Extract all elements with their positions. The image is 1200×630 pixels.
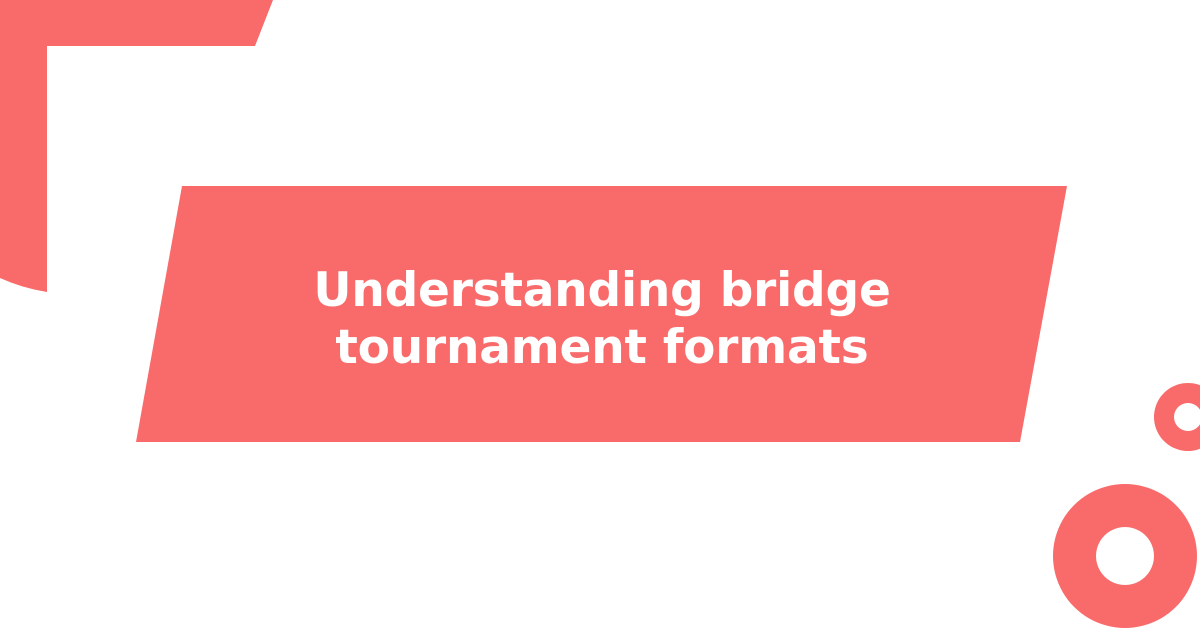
banner: Understanding bridge tournament formats: [0, 0, 1200, 630]
banner-canvas: Understanding bridge tournament formats: [0, 0, 1200, 630]
page-title: Understanding bridge tournament formats: [186, 262, 1018, 376]
